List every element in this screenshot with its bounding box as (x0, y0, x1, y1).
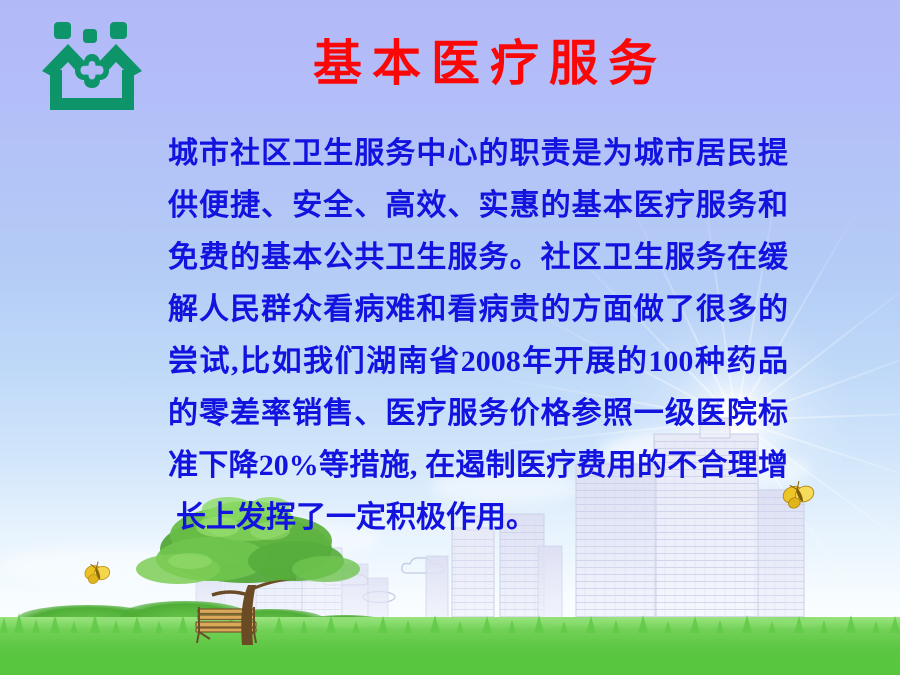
body-line: 解人民群众看病难和看病贵的方面做了很多的 (168, 284, 788, 336)
grass-field (0, 617, 900, 675)
page-title: 基本医疗服务 (270, 38, 700, 89)
cartoon-cloud-icon (303, 564, 347, 582)
cartoon-cloud-icon (400, 555, 452, 577)
yellow-butterfly-left (82, 560, 116, 588)
body-line: 供便捷、安全、高效、实惠的基本医疗服务和 (168, 180, 788, 232)
body-line: 城市社区卫生服务中心的职责是为城市居民提 (168, 128, 788, 180)
body-line: 准下降20%等措施, 在遏制医疗费用的不合理增 (168, 440, 788, 492)
body-paragraph: 城市社区卫生服务中心的职责是为城市居民提 供便捷、安全、高效、实惠的基本医疗服务… (168, 128, 788, 544)
body-line: 的零差率销售、医疗服务价格参照一级医院标 (168, 388, 788, 440)
cloud-shape (0, 545, 230, 585)
body-line: 尝试,比如我们湖南省2008年开展的100种药品 (168, 336, 788, 388)
cartoon-cloud-icon (360, 588, 398, 604)
body-line: 免费的基本公共卫生服务。社区卫生服务在缓 (168, 232, 788, 284)
cartoon-cloud-icon (320, 565, 380, 589)
body-line: 长上发挥了一定积极作用。 (168, 492, 788, 544)
community-health-house-logo (36, 18, 148, 116)
slide-canvas: 基本医疗服务 城市社区卫生服务中心的职责是为城市居民提 供便捷、安全、高效、实惠… (0, 0, 900, 675)
